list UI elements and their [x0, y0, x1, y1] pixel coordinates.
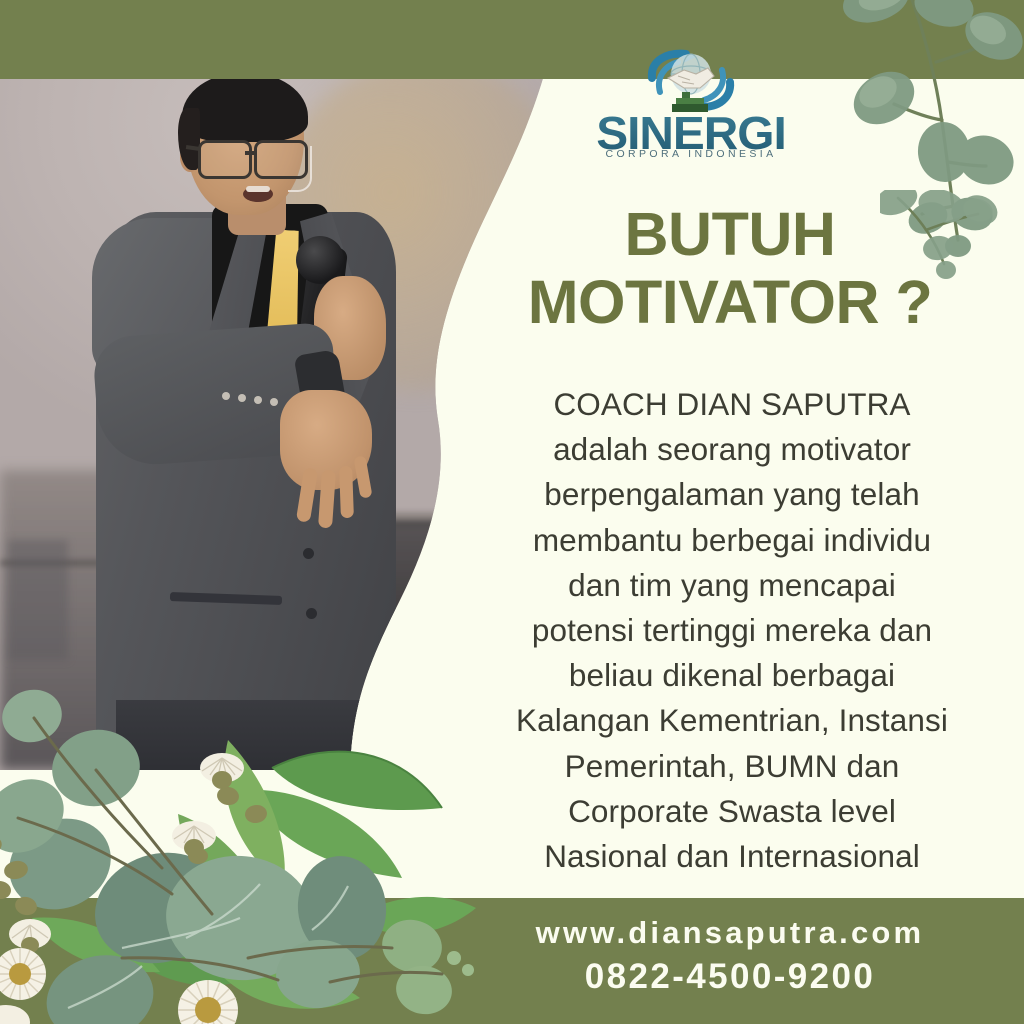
contact-footer: www.diansaputra.com 0822-4500-9200 [470, 915, 990, 997]
website-url[interactable]: www.diansaputra.com [470, 915, 990, 951]
sleeve-button [222, 392, 230, 400]
figure-teeth [246, 186, 270, 192]
figure-finger [339, 466, 354, 518]
eyeglasses-icon [198, 140, 252, 179]
body-line: Corporate Swasta level [468, 789, 996, 834]
headset-mic-icon [288, 146, 312, 192]
poster-canvas: SINERGI CORPORA INDONESIA BUTUH MOTIVATO… [0, 0, 1024, 1024]
body-line: dan tim yang mencapai [468, 563, 996, 608]
body-paragraph: COACH DIAN SAPUTRA adalah seorang motiva… [468, 382, 996, 879]
jacket-button [303, 548, 314, 559]
eyeglasses-bridge [245, 151, 256, 155]
headline-line-1: BUTUH [470, 200, 990, 268]
eucalyptus-bouquet-icon [0, 618, 492, 1024]
body-line: COACH DIAN SAPUTRA [468, 382, 996, 427]
sleeve-button [238, 394, 246, 402]
logo-mark [638, 48, 744, 114]
sinergi-logo: SINERGI CORPORA INDONESIA [582, 48, 800, 168]
page-title: BUTUH MOTIVATOR ? [470, 200, 990, 337]
body-line: Nasional dan Internasional [468, 834, 996, 879]
sleeve-button [270, 398, 278, 406]
body-line: Kalangan Kementrian, Instansi [468, 698, 996, 743]
body-line: potensi tertinggi mereka dan [468, 608, 996, 653]
body-line: adalah seorang motivator [468, 427, 996, 472]
logo-tagline: CORPORA INDONESIA [582, 148, 800, 160]
body-line: berpengalaman yang telah [468, 472, 996, 517]
phone-number[interactable]: 0822-4500-9200 [470, 957, 990, 997]
headline-line-2: MOTIVATOR ? [470, 268, 990, 336]
body-line: Pemerintah, BUMN dan [468, 744, 996, 789]
body-line: membantu berbegai individu [468, 518, 996, 563]
sleeve-button [254, 396, 262, 404]
body-line: beliau dikenal berbagai [468, 653, 996, 698]
